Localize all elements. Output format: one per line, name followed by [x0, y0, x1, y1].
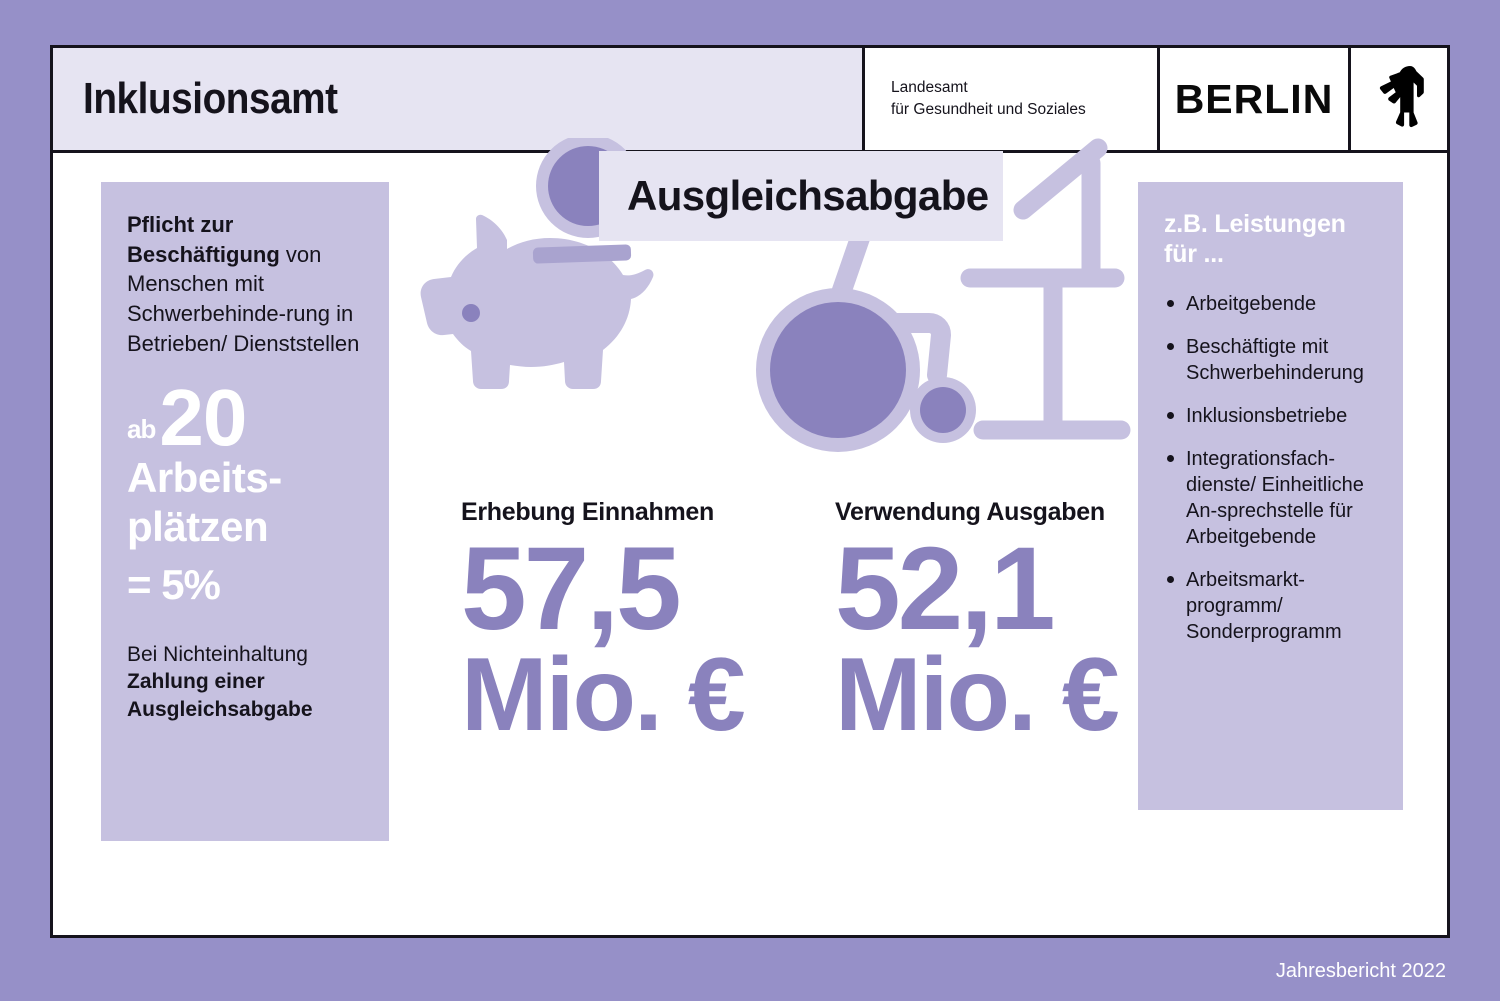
threshold-number: 20 — [159, 384, 246, 452]
stat-spending-unit: Mio. € — [835, 645, 1118, 747]
services-heading: z.B. Leistungen für ... — [1164, 210, 1377, 269]
authority-line-2: für Gesundheit und Soziales — [891, 99, 1157, 121]
berlin-bear-icon — [1369, 62, 1429, 136]
obligation-bold-2: Beschäftigung — [127, 242, 280, 267]
list-item: Integrationsfach-dienste/ Einheitliche A… — [1164, 446, 1377, 550]
list-item: Beschäftigte mit Schwerbehinderung — [1164, 334, 1377, 386]
threshold-unit-line-1: Arbeits- — [127, 456, 363, 500]
report-footer: Jahresbericht 2022 — [1276, 960, 1446, 983]
stat-income-value: 57,5 — [461, 533, 744, 645]
stat-income-unit: Mio. € — [461, 645, 744, 747]
list-item: Arbeitsmarkt-programm/ Sonderprogramm — [1164, 567, 1377, 645]
right-services-panel: z.B. Leistungen für ... Arbeitgebende Be… — [1138, 182, 1403, 810]
threshold-unit-line-2: plätzen — [127, 505, 363, 549]
page-title: Inklusionsamt — [83, 74, 338, 124]
threshold-block: ab 20 Arbeits- plätzen = 5% — [127, 384, 363, 606]
stat-spending-value: 52,1 — [835, 533, 1118, 645]
banner-title-block: Ausgleichsabgabe — [599, 151, 1003, 241]
berlin-bear-block — [1351, 48, 1447, 150]
threshold-prefix: ab — [127, 417, 155, 452]
list-item: Inklusionsbetriebe — [1164, 403, 1377, 429]
services-heading-line-1: z.B. Leistungen — [1164, 210, 1346, 238]
banner-title: Ausgleichsabgabe — [627, 172, 989, 220]
stat-spending: Verwendung Ausgaben 52,1 Mio. € — [835, 498, 1118, 747]
penalty-bold-1: Zahlung einer — [127, 670, 265, 693]
header-title-block: Inklusionsamt — [53, 48, 865, 150]
header-authority-block: Landesamt für Gesundheit und Soziales — [865, 48, 1160, 150]
threshold-percentage: = 5% — [127, 563, 363, 607]
stat-income: Erhebung Einnahmen 57,5 Mio. € — [461, 498, 744, 747]
penalty-bold-2: Ausgleichsabgabe — [127, 698, 313, 721]
berlin-wordmark-block: BERLIN — [1160, 48, 1351, 150]
penalty-text: Bei Nichteinhaltung Zahlung einer Ausgle… — [127, 641, 363, 724]
threshold-number-row: ab 20 — [127, 384, 363, 452]
berlin-wordmark: BERLIN — [1175, 76, 1334, 123]
infographic-body: Pflicht zur Beschäftigung von Menschen m… — [53, 153, 1447, 938]
list-item: Arbeitgebende — [1164, 291, 1377, 317]
services-list: Arbeitgebende Beschäftigte mit Schwerbeh… — [1164, 291, 1377, 645]
penalty-regular: Bei Nichteinhaltung — [127, 643, 308, 666]
services-heading-line-2: für ... — [1164, 240, 1224, 268]
left-info-panel: Pflicht zur Beschäftigung von Menschen m… — [101, 182, 389, 841]
authority-line-1: Landesamt — [891, 77, 1157, 99]
infographic-card: Inklusionsamt Landesamt für Gesundheit u… — [50, 45, 1450, 938]
obligation-bold-1: Pflicht zur — [127, 212, 233, 237]
obligation-text: Pflicht zur Beschäftigung von Menschen m… — [127, 210, 363, 358]
